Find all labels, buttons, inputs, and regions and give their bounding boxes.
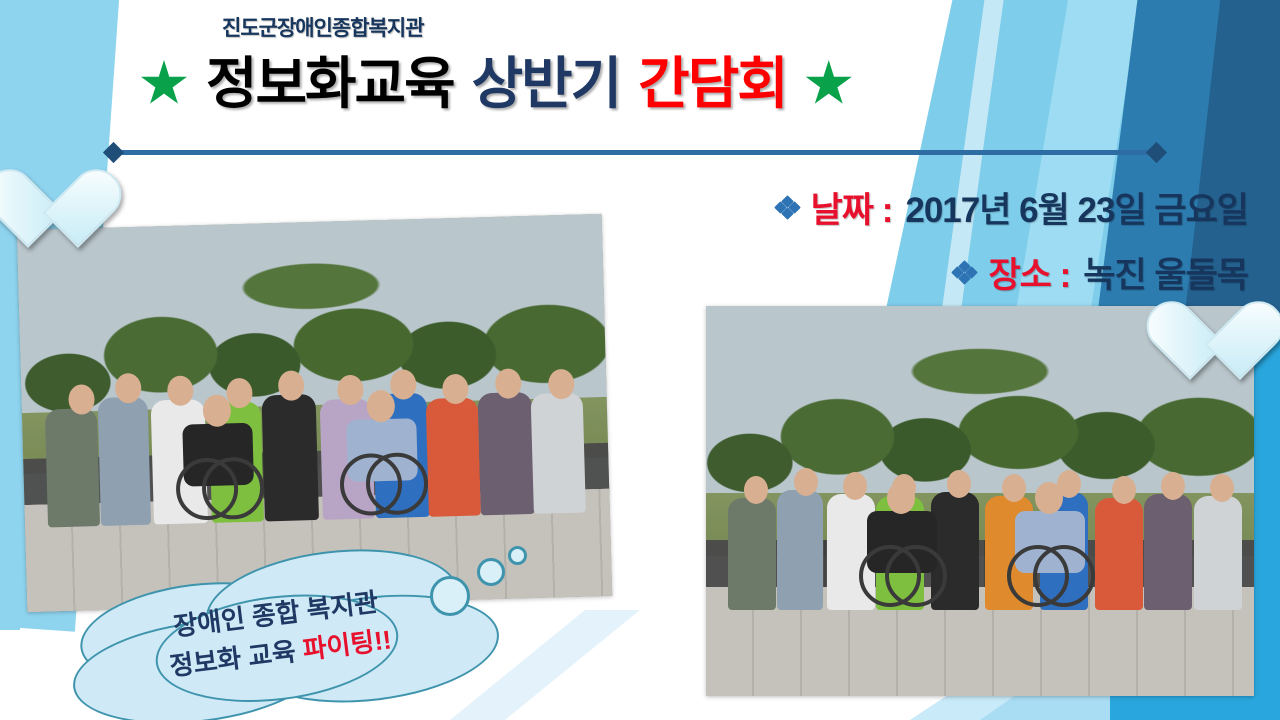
info-row-place: 장소 : 녹진 울돌목 (953, 247, 1248, 298)
diamond-bullet-icon (776, 197, 798, 219)
bubble-tail-dot-medium (477, 558, 505, 586)
title-part-red: 간담회 (638, 56, 787, 112)
info-row-date: 날짜 : 2017년 6월 23일 금요일 (776, 182, 1248, 233)
date-value: 2017년 6월 23일 금요일 (905, 182, 1248, 233)
horizontal-divider (112, 150, 1158, 155)
diamond-bullet-icon (953, 262, 975, 284)
bubble-line-2-accent: 파이팅!! (301, 624, 393, 665)
group-photo-right (706, 306, 1254, 696)
bubble-line-2-prefix: 정보화 교육 (168, 635, 305, 681)
photo-people-group (21, 367, 610, 528)
green-star-icon-left (140, 60, 188, 108)
title-part-blue: 상반기 (472, 56, 621, 112)
slide-title: 정보화교육 상반기 간담회 (140, 48, 1150, 120)
title-part-black: 정보화교육 (206, 56, 454, 112)
organization-name: 진도군장애인종합복지관 (222, 12, 424, 42)
green-star-icon-right (805, 60, 853, 108)
place-label: 장소 : (988, 247, 1070, 298)
bubble-tail-dot-large (430, 576, 470, 616)
place-value: 녹진 울돌목 (1083, 247, 1248, 298)
slide-canvas: 진도군장애인종합복지관 정보화교육 상반기 간담회 날짜 : 2017년 6월 … (0, 0, 1280, 720)
date-label: 날짜 : (811, 182, 893, 233)
bubble-tail-dot-small (508, 546, 527, 565)
left-edge-band (0, 0, 20, 630)
photo-people-group (706, 462, 1254, 610)
